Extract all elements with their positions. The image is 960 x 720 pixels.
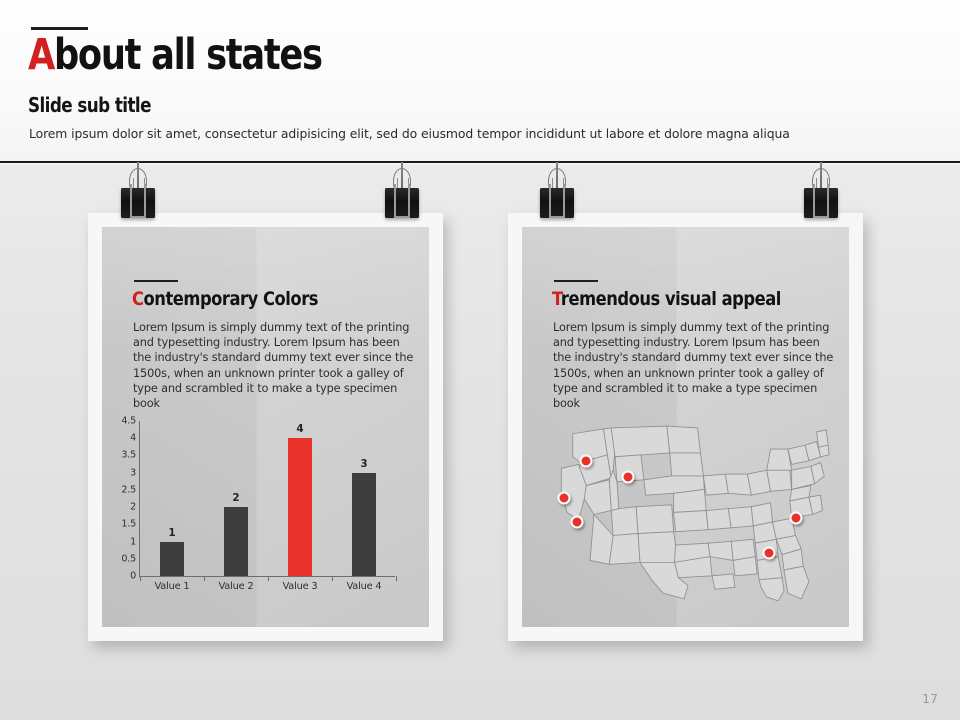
page-title: About all states: [28, 30, 322, 80]
chart-y-tick-label: 1.5: [121, 519, 136, 530]
map-pin-icon[interactable]: [621, 471, 634, 484]
header-divider: [0, 161, 960, 163]
chart-bar-group[interactable]: 1: [140, 421, 204, 576]
chart-x-tick-label: Value 1: [140, 581, 204, 592]
slide-canvas: About all states Slide sub title Lorem i…: [0, 0, 960, 720]
right-panel-accent-rule: [554, 280, 598, 282]
clip-body: [385, 188, 419, 218]
chart-bar-value-label: 2: [204, 492, 268, 504]
us-map-svg: [544, 419, 832, 604]
chart-y-tick-label: 4: [130, 433, 136, 444]
chart-y-tick-label: 2: [130, 502, 136, 513]
right-panel-title: Tremendous visual appeal: [552, 288, 781, 310]
chart-plot-area: 1243: [140, 421, 396, 576]
clip-body: [121, 188, 155, 218]
chart-bar-group[interactable]: 3: [332, 421, 396, 576]
clip-arm-right: [144, 184, 146, 218]
clip-arm-left: [549, 184, 551, 218]
left-panel-accent-rule: [134, 280, 178, 282]
chart-x-axis-line: [139, 576, 395, 577]
page-title-initial: A: [28, 30, 54, 80]
chart-bar[interactable]: [224, 507, 248, 576]
clip-arm-right: [408, 184, 410, 218]
left-panel-body: Lorem Ipsum is simply dummy text of the …: [133, 320, 418, 411]
map-pin-icon[interactable]: [790, 511, 803, 524]
chart-y-tick-label: 1: [130, 536, 136, 547]
chart-bar-value-label: 3: [332, 458, 396, 470]
chart-y-tick-label: 0.5: [121, 553, 136, 564]
clip-arm-foot: [130, 216, 146, 218]
binder-clip-2: [385, 168, 419, 226]
clip-body: [540, 188, 574, 218]
clip-arm-left: [394, 184, 396, 218]
chart-x-tick-label: Value 3: [268, 581, 332, 592]
left-panel-title-initial: C: [132, 288, 144, 310]
chart-x-tick-label: Value 2: [204, 581, 268, 592]
clip-body: [804, 188, 838, 218]
left-panel-title: Contemporary Colors: [132, 288, 318, 310]
map-pin-icon[interactable]: [558, 491, 571, 504]
clip-arm-foot: [394, 216, 410, 218]
binder-clip-3: [540, 168, 574, 226]
chart-bar[interactable]: [352, 473, 376, 576]
clip-arm-foot: [549, 216, 565, 218]
map-pin-icon[interactable]: [579, 454, 592, 467]
chart-y-tick-label: 0: [130, 571, 136, 582]
chart-y-tick-label: 3: [130, 467, 136, 478]
clip-arm-left: [813, 184, 815, 218]
us-map[interactable]: [544, 419, 832, 604]
chart-y-axis-labels: 4.543.532.521.510.50: [110, 421, 136, 576]
clip-arm-right: [563, 184, 565, 218]
chart-y-tick-label: 4.5: [121, 416, 136, 427]
left-panel-title-rest: ontemporary Colors: [144, 288, 318, 310]
right-panel-body: Lorem Ipsum is simply dummy text of the …: [553, 320, 838, 411]
chart-bar-group[interactable]: 4: [268, 421, 332, 576]
right-panel-title-rest: remendous visual appeal: [561, 288, 781, 310]
clip-arm-foot: [813, 216, 829, 218]
right-panel-card[interactable]: Tremendous visual appeal Lorem Ipsum is …: [508, 213, 863, 641]
page-description: Lorem ipsum dolor sit amet, consectetur …: [29, 126, 790, 141]
clip-arm-left: [130, 184, 132, 218]
right-panel-content: Tremendous visual appeal Lorem Ipsum is …: [522, 227, 849, 627]
right-panel-title-initial: T: [552, 288, 561, 310]
chart-bar-value-label: 4: [268, 423, 332, 435]
page-number: 17: [922, 691, 938, 706]
chart-bar-group[interactable]: 2: [204, 421, 268, 576]
left-panel-content: Contemporary Colors Lorem Ipsum is simpl…: [102, 227, 429, 627]
chart-y-tick-label: 3.5: [121, 450, 136, 461]
map-pin-icon[interactable]: [762, 547, 775, 560]
binder-clip-4: [804, 168, 838, 226]
page-title-rest: bout all states: [54, 30, 322, 80]
chart-bar-value-label: 1: [140, 527, 204, 539]
chart-x-tick: [396, 576, 397, 581]
binder-clip-1: [121, 168, 155, 226]
chart-y-tick-label: 2.5: [121, 484, 136, 495]
chart-x-tick-label: Value 4: [332, 581, 396, 592]
bar-chart: 4.543.532.521.510.50 1243 Value 1Value 2…: [110, 421, 410, 601]
clip-arm-right: [827, 184, 829, 218]
chart-bar[interactable]: [160, 542, 184, 576]
left-panel-card[interactable]: Contemporary Colors Lorem Ipsum is simpl…: [88, 213, 443, 641]
page-subtitle: Slide sub title: [28, 93, 151, 117]
chart-x-axis-labels: Value 1Value 2Value 3Value 4: [140, 581, 396, 592]
map-pin-icon[interactable]: [571, 515, 584, 528]
chart-bar[interactable]: [288, 438, 312, 576]
